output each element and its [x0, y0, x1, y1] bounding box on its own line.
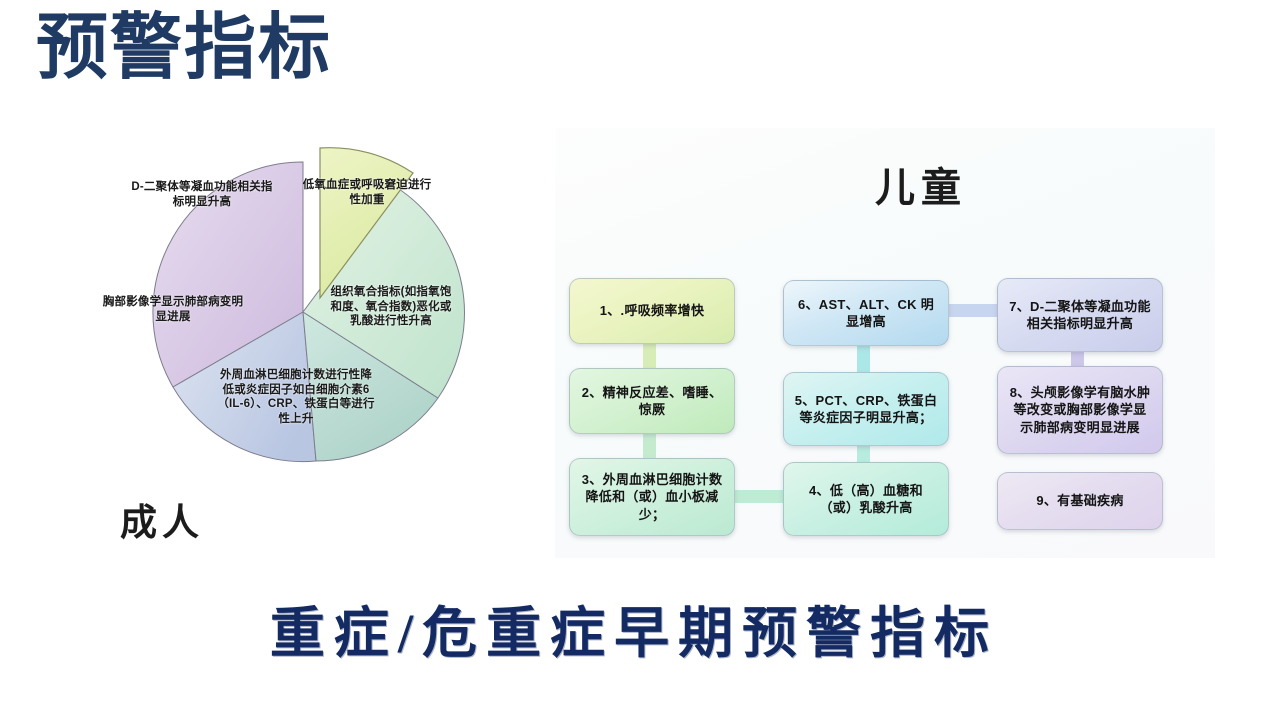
flow-node-1[interactable]: 1、.呼吸频率增快	[569, 278, 735, 344]
flow-node-9[interactable]: 9、有基础疾病	[997, 472, 1163, 530]
child-group-caption: 儿童	[875, 155, 967, 213]
child-flowchart-region: 儿童 1、.呼吸频率增快 2、精神反应差、嗜睡、惊厥 3、外周血淋巴细胞计数降低…	[555, 128, 1215, 558]
flow-node-6[interactable]: 6、AST、ALT、CK 明显增高	[783, 280, 949, 346]
flow-node-2[interactable]: 2、精神反应差、嗜睡、惊厥	[569, 368, 735, 434]
connector-3-to-4	[731, 490, 789, 503]
page-title: 预警指标	[36, 8, 332, 89]
flow-node-8[interactable]: 8、头颅影像学有脑水肿等改变或胸部影像学显示肺部病变明显进展	[997, 366, 1163, 454]
adult-group-caption: 成人	[120, 492, 204, 546]
slide-canvas: 预警指标	[0, 0, 1268, 713]
flow-node-3[interactable]: 3、外周血淋巴细胞计数降低和（或）血小板减少；	[569, 458, 735, 536]
pie-chart	[98, 140, 528, 480]
bottom-caption: 重症/危重症早期预警指标	[0, 588, 1268, 668]
flow-node-5[interactable]: 5、PCT、CRP、铁蛋白等炎症因子明显升高；	[783, 372, 949, 446]
connector-6-to-7	[945, 304, 1003, 317]
adult-pie-chart-region: D-二聚体等凝血功能相关指标明显升高 低氧血症或呼吸窘迫进行性加重 组织氧合指标…	[70, 120, 570, 560]
flow-node-7[interactable]: 7、D-二聚体等凝血功能相关指标明显升高	[997, 278, 1163, 352]
flow-node-4[interactable]: 4、低（高）血糖和（或）乳酸升高	[783, 462, 949, 536]
